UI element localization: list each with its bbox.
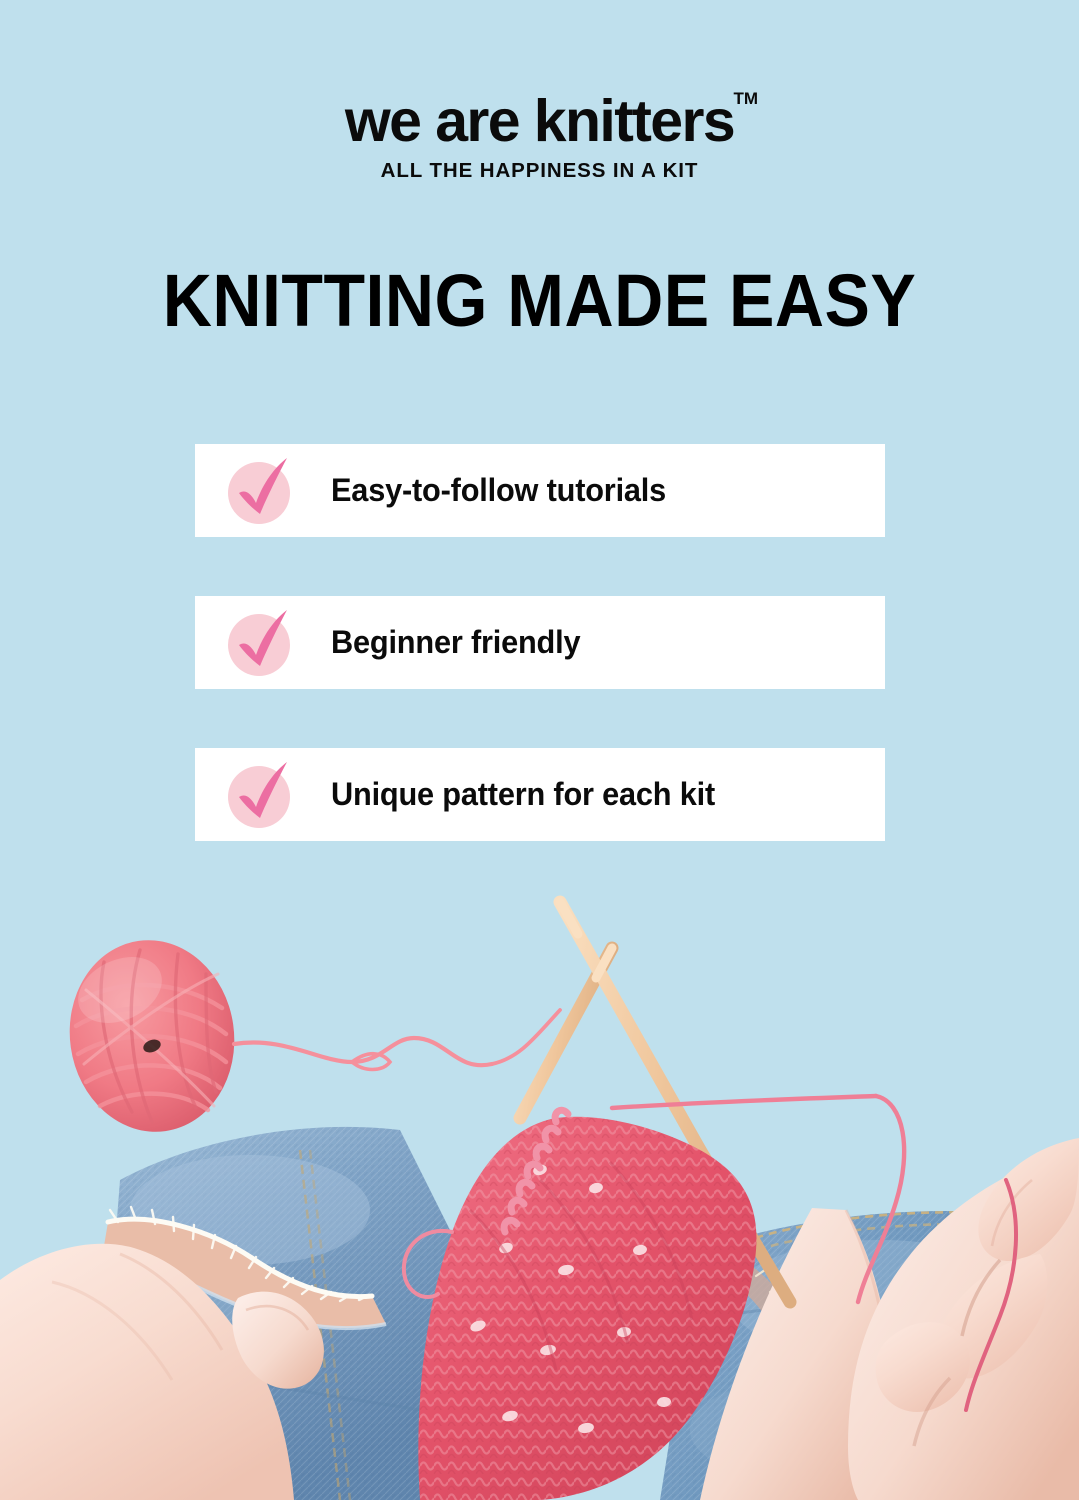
feature-card: Easy-to-follow tutorials <box>195 444 885 537</box>
pink-check-icon <box>225 759 297 831</box>
brand-logo: we are knitters TM ALL THE HAPPINESS IN … <box>0 92 1079 183</box>
feature-card-list: Easy-to-follow tutorials Beginner friend… <box>195 444 885 841</box>
hero-photo <box>0 850 1079 1500</box>
feature-card: Beginner friendly <box>195 596 885 689</box>
pink-check-icon <box>225 455 297 527</box>
brand-wordmark: we are knitters TM <box>345 92 734 151</box>
feature-card: Unique pattern for each kit <box>195 748 885 841</box>
page-title: KNITTING MADE EASY <box>43 264 1036 338</box>
trademark-icon: TM <box>734 90 759 107</box>
feature-card-label: Beginner friendly <box>331 624 580 661</box>
feature-card-label: Unique pattern for each kit <box>331 776 715 813</box>
poster-root: we are knitters TM ALL THE HAPPINESS IN … <box>0 0 1079 1500</box>
feature-card-label: Easy-to-follow tutorials <box>331 472 666 509</box>
pink-check-icon <box>225 607 297 679</box>
brand-wordmark-text: we are knitters <box>345 88 734 154</box>
brand-tagline: ALL THE HAPPINESS IN A KIT <box>0 159 1079 183</box>
